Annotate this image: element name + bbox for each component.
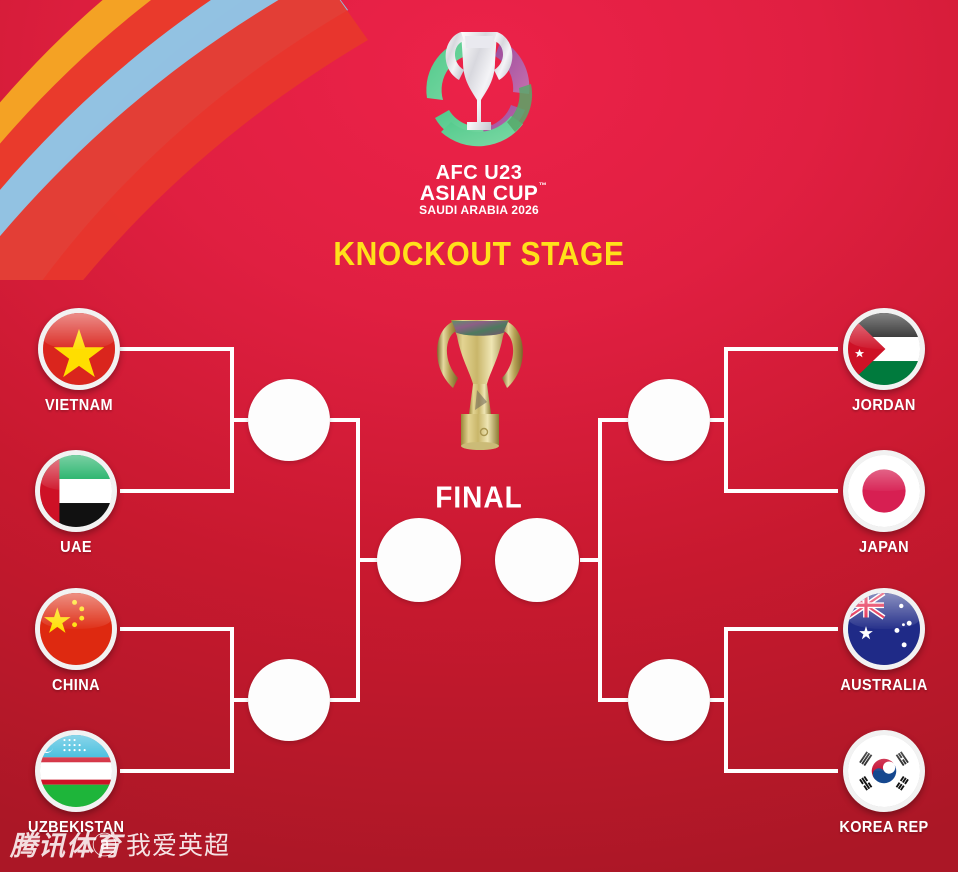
australia-flag-icon bbox=[848, 593, 920, 665]
flag-badge bbox=[843, 308, 925, 390]
handle-watermark: ⓐ 我爱英超 bbox=[92, 826, 230, 862]
china-flag-icon bbox=[40, 593, 112, 665]
afc-u23-trophy-logo-icon bbox=[393, 22, 565, 162]
team-node-australia[interactable]: AUSTRALIA bbox=[836, 588, 932, 694]
final-label: FINAL bbox=[0, 480, 958, 515]
semifinal-slot-left-bottom[interactable] bbox=[248, 659, 330, 741]
semifinal-slot-right-bottom[interactable] bbox=[628, 659, 710, 741]
team-label: UAE bbox=[28, 540, 124, 557]
team-node-vietnam[interactable]: VIETNAM bbox=[31, 308, 127, 414]
afc-u23-asian-cup-logo: AFC U23 ASIAN CUP™ SAUDI ARABIA 2026 bbox=[393, 22, 565, 222]
final-slot-left[interactable] bbox=[377, 518, 461, 602]
knockout-bracket-graphic: AFC U23 ASIAN CUP™ SAUDI ARABIA 2026 KNO… bbox=[0, 0, 958, 872]
uzbekistan-flag-icon bbox=[40, 735, 112, 807]
vietnam-flag-icon bbox=[43, 313, 115, 385]
semifinal-slot-right-top[interactable] bbox=[628, 379, 710, 461]
page-title: KNOCKOUT STAGE bbox=[0, 236, 958, 274]
flag-badge bbox=[35, 588, 117, 670]
flag-badge bbox=[843, 588, 925, 670]
team-label: VIETNAM bbox=[31, 398, 127, 415]
team-label: CHINA bbox=[28, 678, 124, 695]
final-slot-right[interactable] bbox=[495, 518, 579, 602]
flag-badge bbox=[35, 730, 117, 812]
logo-line-2: ASIAN CUP™ bbox=[420, 183, 538, 204]
team-label: AUSTRALIA bbox=[836, 678, 932, 695]
team-label: JORDAN bbox=[836, 398, 932, 415]
jordan-flag-icon bbox=[848, 313, 920, 385]
flag-badge bbox=[38, 308, 120, 390]
trademark-symbol: ™ bbox=[539, 182, 547, 190]
logo-line-3: SAUDI ARABIA 2026 bbox=[390, 206, 569, 218]
team-node-china[interactable]: CHINA bbox=[28, 588, 124, 694]
flag-badge bbox=[843, 730, 925, 812]
team-node-korea-republic[interactable]: KOREA REP bbox=[836, 730, 932, 836]
gold-trophy-icon bbox=[425, 306, 535, 476]
final-trophy bbox=[425, 306, 535, 476]
team-node-jordan[interactable]: JORDAN bbox=[836, 308, 932, 414]
team-label: JAPAN bbox=[836, 540, 932, 557]
team-node-uzbekistan[interactable]: UZBEKISTAN bbox=[28, 730, 124, 836]
logo-line-2-text: ASIAN CUP bbox=[420, 182, 538, 205]
semifinal-slot-left-top[interactable] bbox=[248, 379, 330, 461]
team-label: KOREA REP bbox=[836, 820, 932, 837]
logo-line-1: AFC U23 bbox=[393, 163, 565, 183]
korea-republic-flag-icon bbox=[848, 735, 920, 807]
